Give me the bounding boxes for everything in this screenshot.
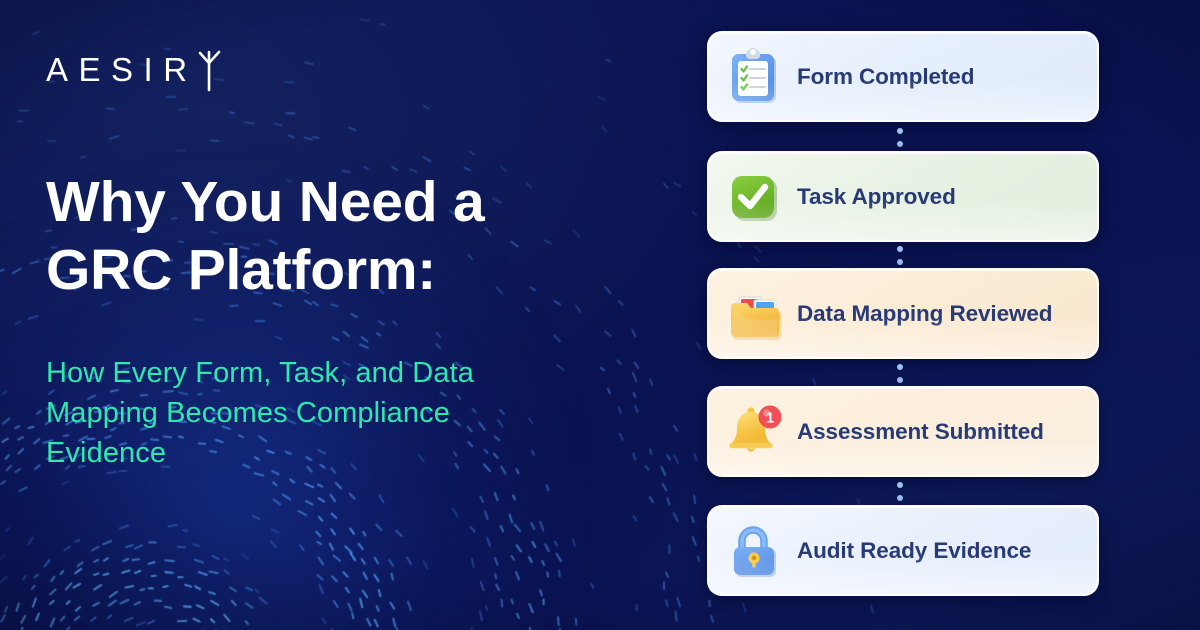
- connector-dot: [897, 259, 903, 265]
- flow-step-audit-ready-evidence[interactable]: Audit Ready Evidence: [707, 505, 1099, 596]
- subheadline-line-1: How Every Form, Task, and Data: [46, 353, 631, 393]
- folder-files-icon: [727, 283, 783, 345]
- flow-step-label: Audit Ready Evidence: [797, 538, 1031, 564]
- bell-notification-icon: 1: [727, 401, 783, 463]
- flow-step-data-mapping-reviewed[interactable]: Data Mapping Reviewed: [707, 268, 1099, 359]
- hero-panel: AESIR Why You Need a GRC Platform: How E…: [0, 0, 690, 630]
- connector-dot: [897, 141, 903, 147]
- brand-logo-text: AESIR: [46, 53, 198, 86]
- flow-step-assessment-submitted[interactable]: 1 Assessment Submitted: [707, 386, 1099, 477]
- brand-logo: AESIR: [46, 43, 222, 95]
- flow-step-form-completed[interactable]: Form Completed: [707, 31, 1099, 122]
- subheadline-line-2: Mapping Becomes Compliance: [46, 393, 631, 433]
- flow-step-label: Form Completed: [797, 64, 974, 90]
- notification-badge-count: 1: [766, 409, 774, 426]
- flow-step-label: Task Approved: [797, 184, 956, 210]
- flow-step-label: Assessment Submitted: [797, 419, 1044, 445]
- connector-dot: [897, 495, 903, 501]
- clipboard-checklist-icon: [727, 46, 783, 108]
- page-title: Why You Need a GRC Platform:: [46, 168, 646, 305]
- headline-line-2: GRC Platform:: [46, 236, 646, 304]
- green-check-icon: [727, 166, 783, 228]
- compliance-flow-diagram: Form Completed Task Approved: [707, 0, 1107, 630]
- page-subtitle: How Every Form, Task, and Data Mapping B…: [46, 353, 631, 473]
- aesir-rune-icon: [196, 49, 222, 89]
- headline-line-1: Why You Need a: [46, 168, 646, 236]
- connector-dot: [897, 128, 903, 134]
- subheadline-line-3: Evidence: [46, 433, 631, 473]
- connector-dot: [897, 377, 903, 383]
- connector-dot: [897, 246, 903, 252]
- connector-dot: [897, 482, 903, 488]
- connector-dot: [897, 364, 903, 370]
- flow-step-task-approved[interactable]: Task Approved: [707, 151, 1099, 242]
- padlock-icon: [727, 520, 783, 582]
- flow-step-label: Data Mapping Reviewed: [797, 301, 1052, 327]
